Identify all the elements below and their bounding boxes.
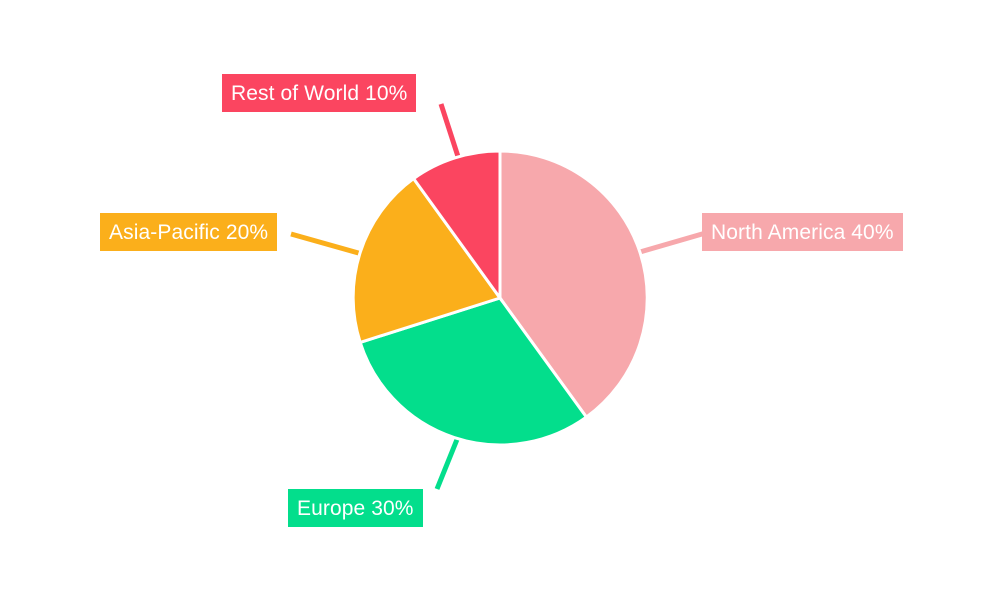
leader-line-europe bbox=[437, 437, 458, 489]
pie-label-europe[interactable]: Europe 30% bbox=[288, 489, 423, 527]
pie-chart-canvas bbox=[0, 0, 1000, 600]
leader-line-north-america bbox=[640, 232, 709, 252]
pie-label-rest-of-world[interactable]: Rest of World 10% bbox=[222, 74, 416, 112]
pie-label-north-america[interactable]: North America 40% bbox=[702, 213, 903, 251]
pie-label-asia-pacific[interactable]: Asia-Pacific 20% bbox=[100, 213, 277, 251]
pie-chart-figure: Rest of World 10% Asia-Pacific 20% North… bbox=[0, 0, 1000, 600]
pie-wedges bbox=[353, 151, 647, 445]
leader-line-asia-pacific bbox=[291, 234, 362, 254]
